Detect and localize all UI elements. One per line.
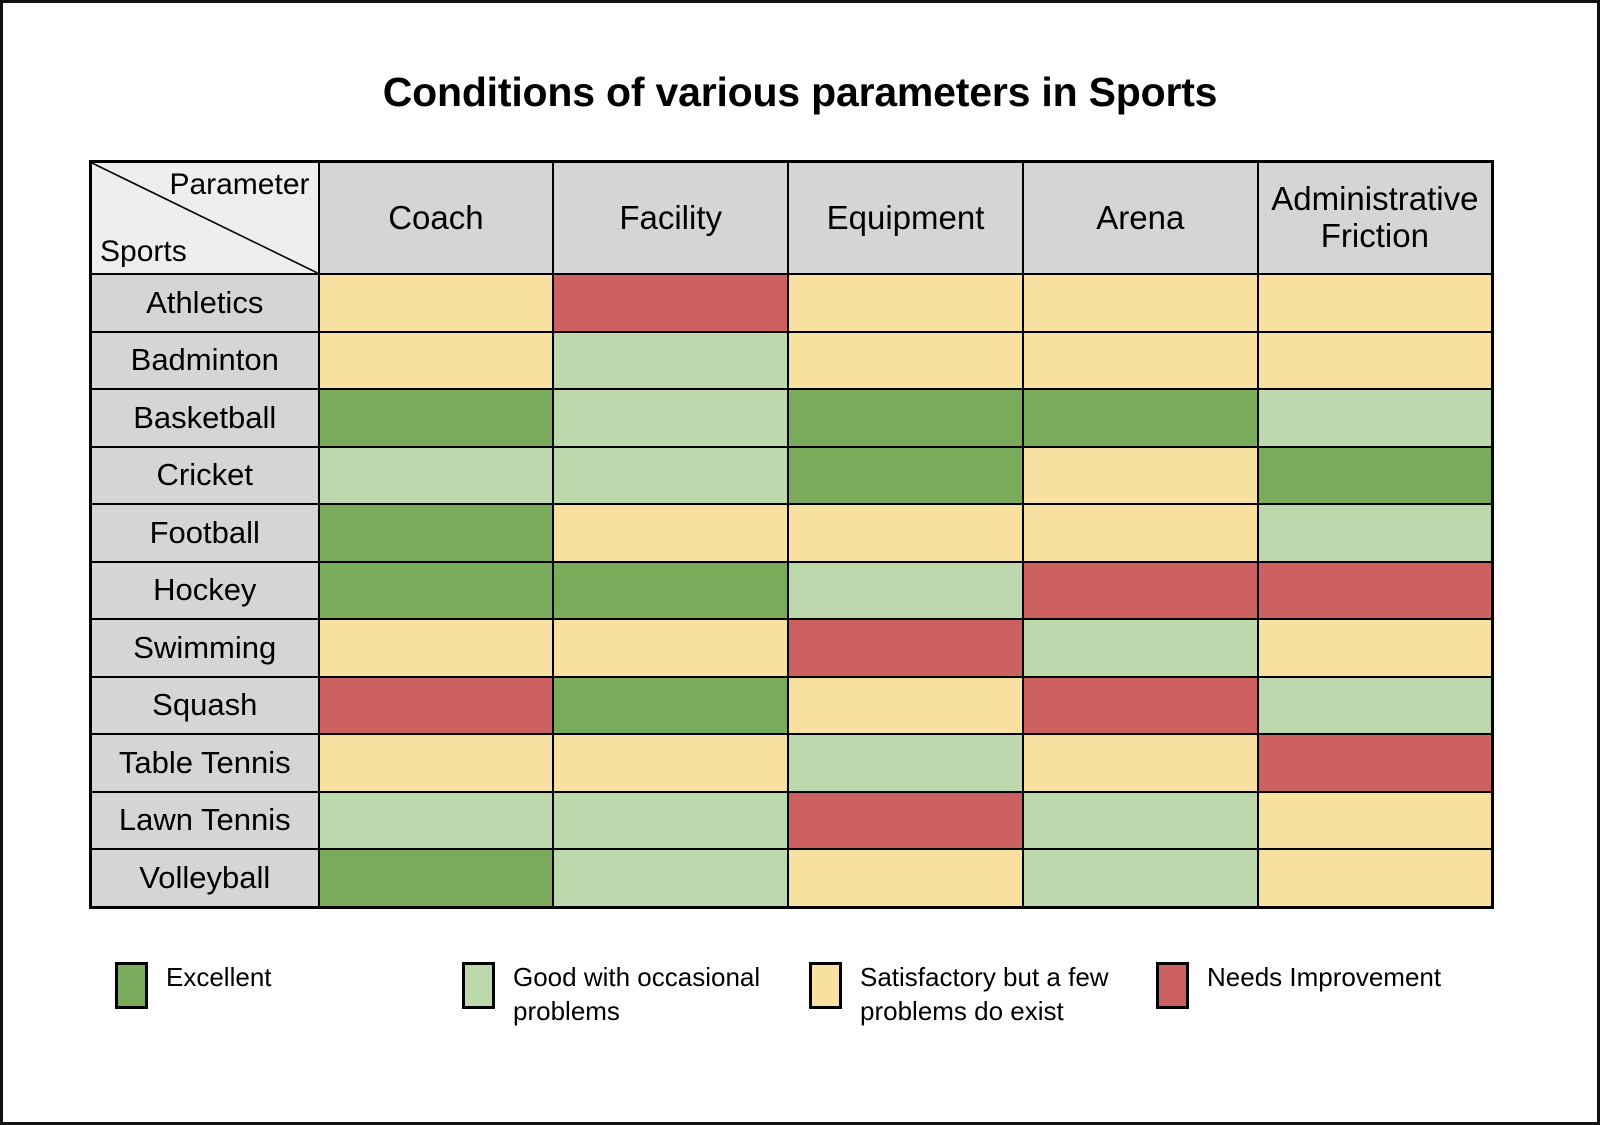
legend: ExcellentGood with occasional problemsSa… (115, 960, 1505, 1029)
heatmap-cell-squash-facility (553, 677, 788, 735)
column-header-facility: Facility (553, 162, 788, 275)
heatmap-cell-cricket-arena (1023, 447, 1258, 505)
row-header-swimming: Swimming (91, 619, 319, 677)
table-row: Squash (91, 677, 1493, 735)
heatmap-cell-squash-administrative-friction (1258, 677, 1493, 735)
heatmap-cell-squash-coach (319, 677, 554, 735)
legend-item-satisfactory: Satisfactory but a few problems do exist (809, 960, 1156, 1029)
heatmap-cell-athletics-coach (319, 274, 554, 332)
heatmap-cell-squash-equipment (788, 677, 1023, 735)
heatmap-cell-hockey-equipment (788, 562, 1023, 620)
heatmap-cell-athletics-administrative-friction (1258, 274, 1493, 332)
row-header-basketball: Basketball (91, 389, 319, 447)
heatmap-cell-hockey-coach (319, 562, 554, 620)
heatmap-cell-football-coach (319, 504, 554, 562)
table-row: Badminton (91, 332, 1493, 390)
heatmap-cell-hockey-facility (553, 562, 788, 620)
legend-swatch-needs_improvement (1156, 962, 1189, 1009)
heatmap-cell-football-equipment (788, 504, 1023, 562)
legend-label-good: Good with occasional problems (513, 960, 785, 1029)
heatmap-cell-volleyball-coach (319, 849, 554, 907)
heatmap-cell-athletics-facility (553, 274, 788, 332)
page-title: Conditions of various parameters in Spor… (3, 69, 1597, 116)
row-header-table-tennis: Table Tennis (91, 734, 319, 792)
heatmap-cell-cricket-coach (319, 447, 554, 505)
legend-item-good: Good with occasional problems (462, 960, 809, 1029)
heatmap-cell-badminton-coach (319, 332, 554, 390)
heatmap-cell-basketball-arena (1023, 389, 1258, 447)
heatmap-cell-badminton-administrative-friction (1258, 332, 1493, 390)
heatmap-cell-hockey-administrative-friction (1258, 562, 1493, 620)
row-header-badminton: Badminton (91, 332, 319, 390)
heatmap-cell-lawn-tennis-administrative-friction (1258, 792, 1493, 850)
heatmap-cell-football-administrative-friction (1258, 504, 1493, 562)
column-header-coach: Coach (319, 162, 554, 275)
heatmap-cell-basketball-facility (553, 389, 788, 447)
legend-swatch-good (462, 962, 495, 1009)
heatmap-cell-basketball-equipment (788, 389, 1023, 447)
row-header-hockey: Hockey (91, 562, 319, 620)
heatmap-cell-squash-arena (1023, 677, 1258, 735)
row-header-football: Football (91, 504, 319, 562)
table-row: Hockey (91, 562, 1493, 620)
heatmap-cell-volleyball-facility (553, 849, 788, 907)
heatmap-cell-swimming-arena (1023, 619, 1258, 677)
heatmap-cell-hockey-arena (1023, 562, 1258, 620)
legend-label-needs_improvement: Needs Improvement (1207, 960, 1441, 994)
heatmap-cell-football-arena (1023, 504, 1258, 562)
row-header-athletics: Athletics (91, 274, 319, 332)
column-header-administrative-friction: Administrative Friction (1258, 162, 1493, 275)
corner-sports-label: Sports (100, 236, 187, 268)
row-header-squash: Squash (91, 677, 319, 735)
heatmap-cell-badminton-arena (1023, 332, 1258, 390)
heatmap-cell-football-facility (553, 504, 788, 562)
table-row: Cricket (91, 447, 1493, 505)
table-row: Lawn Tennis (91, 792, 1493, 850)
legend-swatch-excellent (115, 962, 148, 1009)
heatmap-cell-swimming-equipment (788, 619, 1023, 677)
row-header-lawn-tennis: Lawn Tennis (91, 792, 319, 850)
row-header-cricket: Cricket (91, 447, 319, 505)
heatmap-cell-table-tennis-administrative-friction (1258, 734, 1493, 792)
legend-swatch-satisfactory (809, 962, 842, 1009)
heatmap-cell-table-tennis-arena (1023, 734, 1258, 792)
heatmap-cell-lawn-tennis-coach (319, 792, 554, 850)
heatmap-cell-swimming-facility (553, 619, 788, 677)
heatmap-cell-table-tennis-facility (553, 734, 788, 792)
heatmap-cell-lawn-tennis-facility (553, 792, 788, 850)
table-row: Athletics (91, 274, 1493, 332)
row-header-volleyball: Volleyball (91, 849, 319, 907)
heatmap-cell-volleyball-arena (1023, 849, 1258, 907)
legend-label-satisfactory: Satisfactory but a few problems do exist (860, 960, 1132, 1029)
heatmap-cell-cricket-administrative-friction (1258, 447, 1493, 505)
heatmap-cell-basketball-administrative-friction (1258, 389, 1493, 447)
heatmap-cell-volleyball-equipment (788, 849, 1023, 907)
corner-header-cell: Parameter Sports (91, 162, 319, 275)
heatmap-cell-cricket-equipment (788, 447, 1023, 505)
heatmap-cell-athletics-equipment (788, 274, 1023, 332)
legend-label-excellent: Excellent (166, 960, 272, 994)
heatmap-cell-badminton-equipment (788, 332, 1023, 390)
heatmap-cell-basketball-coach (319, 389, 554, 447)
heatmap-cell-table-tennis-equipment (788, 734, 1023, 792)
heatmap-cell-badminton-facility (553, 332, 788, 390)
table-row: Basketball (91, 389, 1493, 447)
table-header-row: Parameter Sports CoachFacilityEquipmentA… (91, 162, 1493, 275)
table-row: Football (91, 504, 1493, 562)
heatmap-cell-lawn-tennis-equipment (788, 792, 1023, 850)
table-row: Swimming (91, 619, 1493, 677)
heatmap-cell-athletics-arena (1023, 274, 1258, 332)
legend-item-needs_improvement: Needs Improvement (1156, 960, 1503, 1009)
column-header-arena: Arena (1023, 162, 1258, 275)
chart-canvas: Conditions of various parameters in Spor… (0, 0, 1600, 1125)
table-row: Volleyball (91, 849, 1493, 907)
heatmap-table: Parameter Sports CoachFacilityEquipmentA… (89, 160, 1494, 909)
heatmap-cell-cricket-facility (553, 447, 788, 505)
heatmap-cell-volleyball-administrative-friction (1258, 849, 1493, 907)
heatmap-matrix-container: Parameter Sports CoachFacilityEquipmentA… (89, 160, 1491, 909)
heatmap-cell-lawn-tennis-arena (1023, 792, 1258, 850)
heatmap-cell-swimming-coach (319, 619, 554, 677)
legend-item-excellent: Excellent (115, 960, 462, 1009)
table-row: Table Tennis (91, 734, 1493, 792)
column-header-equipment: Equipment (788, 162, 1023, 275)
heatmap-cell-table-tennis-coach (319, 734, 554, 792)
corner-parameter-label: Parameter (169, 169, 309, 201)
heatmap-cell-swimming-administrative-friction (1258, 619, 1493, 677)
